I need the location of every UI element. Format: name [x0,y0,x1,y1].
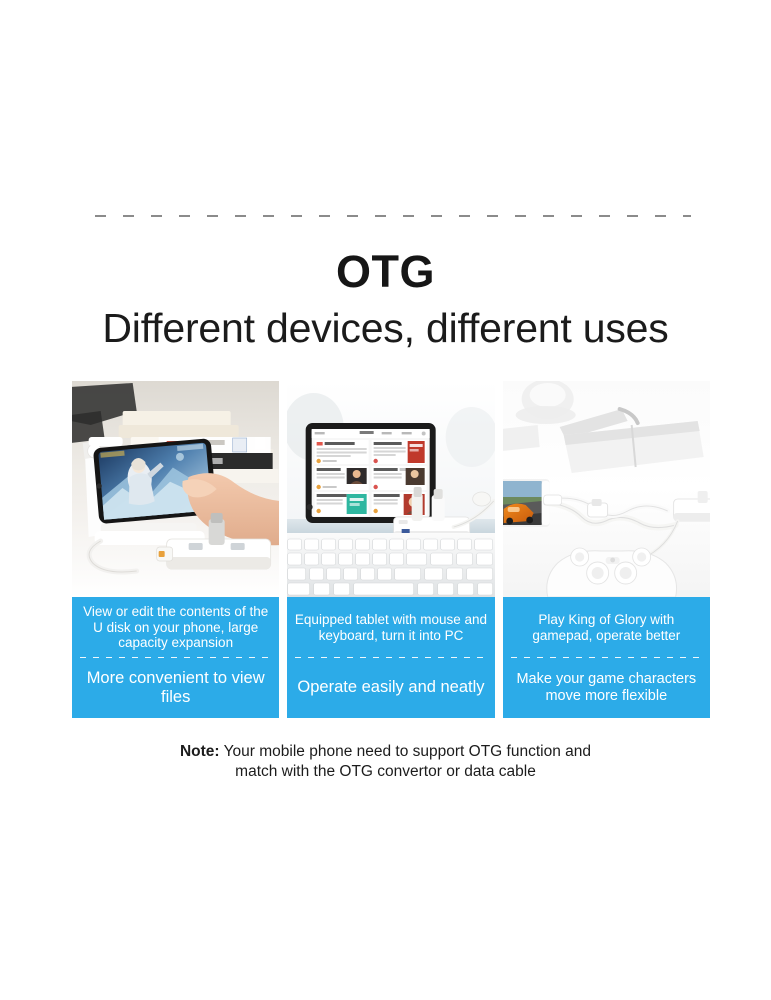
page-subtitle: Different devices, different uses [0,306,771,350]
caption-bottom-text: Operate easily and neatly [287,658,494,718]
phone-on-dock-with-usb-hub-photo [72,381,279,597]
caption-bottom-text: More convenient to view files [72,658,279,718]
card-caption: Equipped tablet with mouse and keyboard,… [287,597,494,718]
caption-top-text: Play King of Glory with gamepad, operate… [503,597,710,658]
dashed-rule-icon [95,215,691,217]
card-caption: View or edit the contents of the U disk … [72,597,279,718]
feature-card: Play King of Glory with gamepad, operate… [503,381,710,718]
caption-top-text: View or edit the contents of the U disk … [72,597,279,658]
feature-card: View or edit the contents of the U disk … [72,381,279,718]
feature-card: Equipped tablet with mouse and keyboard,… [287,381,494,718]
footer-note: Note: Your mobile phone need to support … [0,742,771,783]
feature-card-grid: View or edit the contents of the U disk … [72,381,710,718]
caption-top-text: Equipped tablet with mouse and keyboard,… [287,597,494,658]
caption-dashed-divider-icon [511,657,702,658]
caption-dashed-divider-icon [80,657,271,658]
phone-with-gamepad-photo [503,381,710,597]
note-line-2: match with the OTG convertor or data cab… [235,763,536,780]
tablet-with-keyboard-and-hub-photo [287,381,494,597]
note-line-1: Your mobile phone need to support OTG fu… [220,743,591,760]
caption-bottom-text: Make your game characters move more flex… [503,658,710,718]
page-title: OTG [0,249,771,294]
note-label: Note: [180,743,220,760]
product-feature-page: OTG Different devices, different uses [0,0,771,1000]
card-caption: Play King of Glory with gamepad, operate… [503,597,710,718]
caption-dashed-divider-icon [295,657,486,658]
